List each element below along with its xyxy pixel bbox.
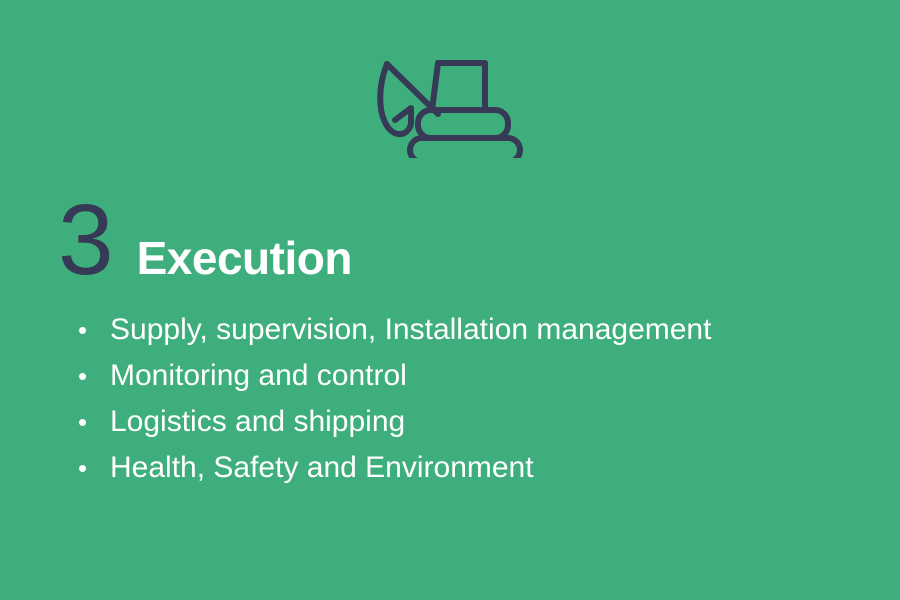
- bullet-point-icon: •: [74, 404, 110, 440]
- list-item-label: Monitoring and control: [110, 358, 407, 394]
- list-item: • Supply, supervision, Installation mana…: [74, 312, 711, 358]
- bullet-point-icon: •: [74, 312, 110, 348]
- section-title: Execution: [137, 235, 352, 281]
- bullet-point-icon: •: [74, 450, 110, 486]
- list-item-label: Supply, supervision, Installation manage…: [110, 312, 711, 348]
- list-item-label: Logistics and shipping: [110, 404, 405, 440]
- section-number: 3: [58, 190, 113, 290]
- page-title: 3 Execution: [58, 190, 352, 290]
- list-item: • Logistics and shipping: [74, 404, 711, 450]
- list-item: • Health, Safety and Environment: [74, 450, 711, 496]
- list-item: • Monitoring and control: [74, 358, 711, 404]
- bullet-point-icon: •: [74, 358, 110, 394]
- slide-canvas: 3 Execution • Supply, supervision, Insta…: [0, 0, 900, 600]
- list-item-label: Health, Safety and Environment: [110, 450, 534, 486]
- excavator-icon: [375, 52, 530, 158]
- bullet-list: • Supply, supervision, Installation mana…: [74, 312, 711, 496]
